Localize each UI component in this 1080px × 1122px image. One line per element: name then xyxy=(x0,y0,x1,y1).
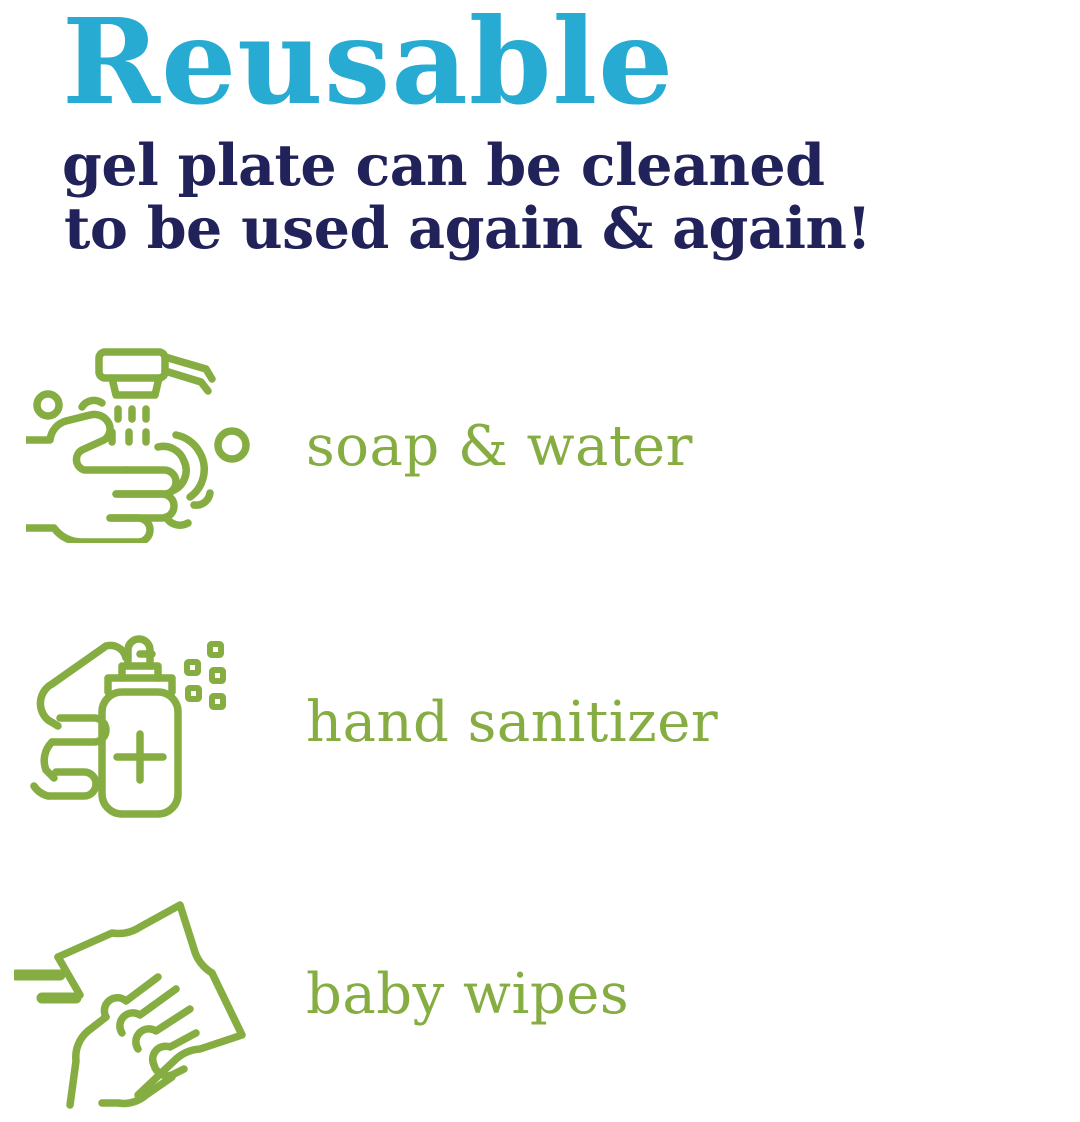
handwashing-soap-dispenser-icon xyxy=(0,330,294,560)
list-item: hand sanitizer xyxy=(0,596,1080,850)
subtitle-line-1: gel plate can be cleaned xyxy=(62,134,1040,197)
cleaning-methods-list: soap & water xyxy=(0,318,1080,1122)
method-label-hand-sanitizer: hand sanitizer xyxy=(300,693,718,753)
heading-block: Reusable gel plate can be cleaned to be … xyxy=(0,0,1080,260)
hand-holding-sanitizer-spray-bottle-icon xyxy=(0,612,286,842)
list-item: baby wipes xyxy=(0,868,1080,1122)
list-item: soap & water xyxy=(0,318,1080,572)
hand-wiping-cloth-icon xyxy=(0,890,288,1120)
subtitle-line-2: to be used again & again! xyxy=(62,197,1040,260)
page-title: Reusable xyxy=(62,0,1040,118)
method-label-soap-and-water: soap & water xyxy=(300,417,693,477)
method-label-baby-wipes: baby wipes xyxy=(300,965,629,1025)
reusable-gel-plate-poster: Reusable gel plate can be cleaned to be … xyxy=(0,0,1080,1080)
page-subtitle: gel plate can be cleaned to be used agai… xyxy=(62,118,1040,260)
